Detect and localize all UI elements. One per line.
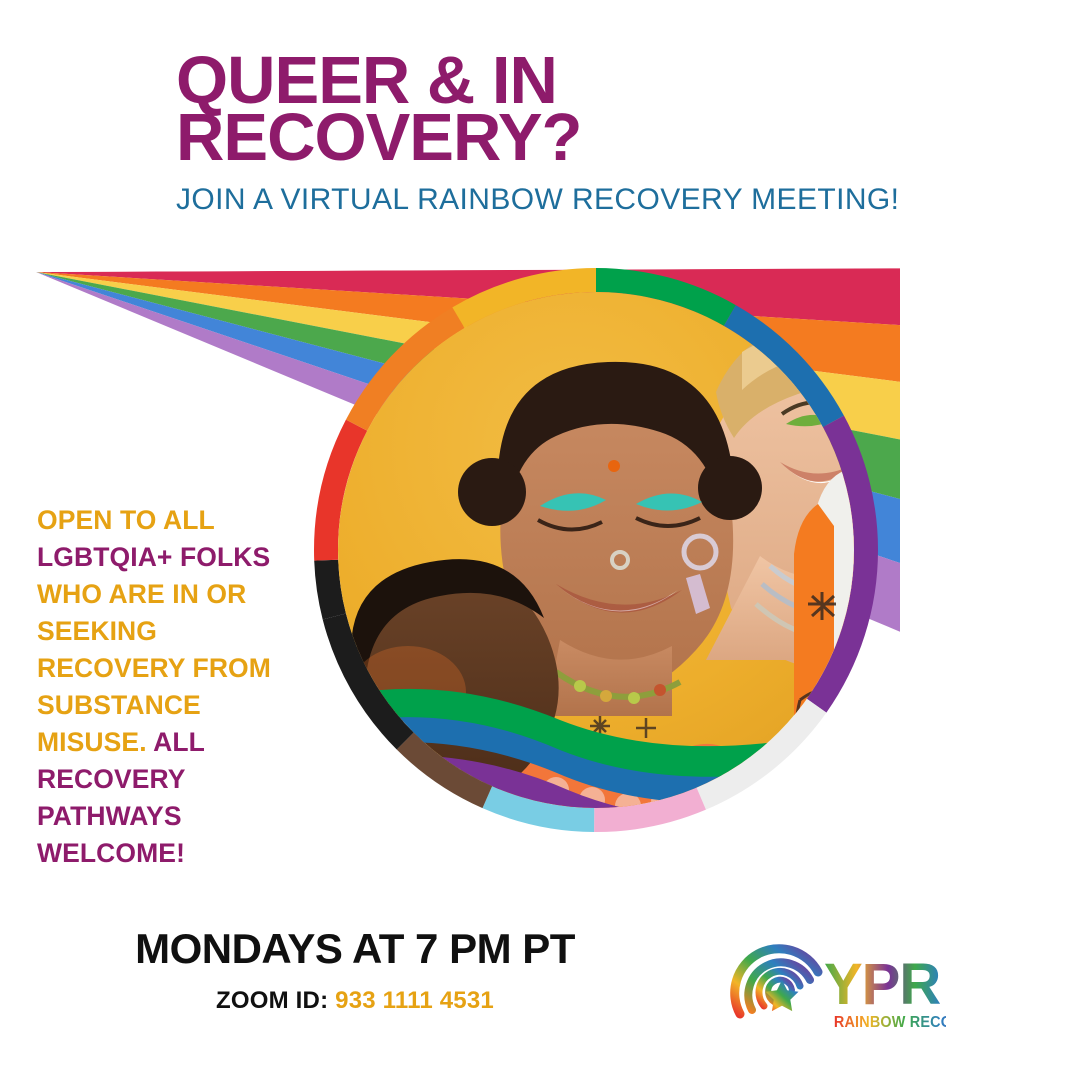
zoom-id-label: ZOOM ID: (216, 987, 335, 1014)
eligibility-copy: OPEN TO ALL LGBTQIA+ FOLKS WHO ARE IN OR… (37, 502, 305, 872)
pride-flag-bottom (338, 689, 854, 884)
logo-wordmark: YPR (824, 952, 940, 1017)
headline-line-2: RECOVERY? (176, 100, 581, 175)
copy-segment-lgbtqia: LGBTQIA+ FOLKS (37, 542, 270, 572)
copy-segment-open-to-all: OPEN TO ALL (37, 505, 214, 535)
zoom-details: ZOOM ID: 933 1111 4531 (0, 973, 710, 1015)
meeting-details: MONDAYS AT 7 PM PT ZOOM ID: 933 1111 453… (0, 925, 710, 1015)
person-left (350, 559, 559, 814)
group-photo (338, 292, 941, 898)
person-right (542, 313, 941, 702)
ypr-logo[interactable]: YPR RAINBOW RECOVERY (726, 928, 946, 1036)
logo-tagline: RAINBOW RECOVERY (834, 1014, 946, 1032)
arm-tattoos (797, 592, 867, 773)
zoom-id-value[interactable]: 933 1111 4531 (335, 987, 494, 1014)
page-title: QUEER & IN RECOVERY? (176, 52, 936, 166)
headline-block: QUEER & IN RECOVERY? JOIN A VIRTUAL RAIN… (176, 52, 936, 217)
poster-canvas: QUEER & IN RECOVERY? JOIN A VIRTUAL RAIN… (0, 0, 1080, 1080)
pride-ring (326, 280, 866, 820)
person-center (458, 362, 769, 898)
pride-flag-drape (794, 470, 898, 770)
meeting-time: MONDAYS AT 7 PM PT (0, 925, 710, 973)
